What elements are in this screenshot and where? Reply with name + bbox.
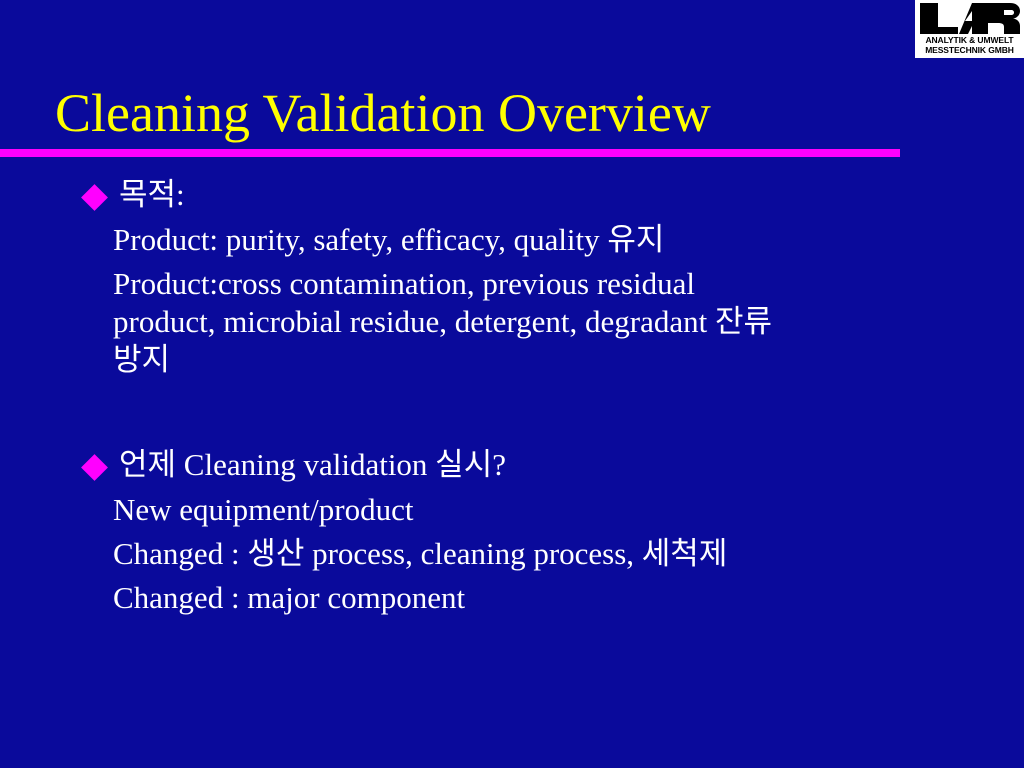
body-line: Product: purity, safety, efficacy, quali… [0, 221, 1024, 259]
bullet-item: 목적: [0, 175, 1024, 215]
slide-canvas: ANALYTIK & UMWELT MESSTECHNIK GMBH Clean… [0, 0, 1024, 768]
body-line: 방지 [0, 341, 1024, 379]
bullet-label: 언제 Cleaning validation 실시? [119, 445, 506, 485]
page-title: Cleaning Validation Overview [55, 82, 955, 144]
title-underline-rule [0, 149, 900, 157]
content-section-purpose: 목적: Product: purity, safety, efficacy, q… [0, 175, 1024, 379]
body-line: New equipment/product [0, 491, 1024, 529]
bullet-label: 목적: [119, 175, 185, 215]
diamond-bullet-icon [81, 454, 108, 481]
body-line: Changed : 생산 process, cleaning process, … [0, 535, 1024, 573]
company-logo: ANALYTIK & UMWELT MESSTECHNIK GMBH [915, 0, 1024, 58]
bullet-item: 언제 Cleaning validation 실시? [0, 445, 1024, 485]
body-line: Changed : major component [0, 579, 1024, 617]
logo-subtitle-line1: ANALYTIK & UMWELT [925, 35, 1013, 45]
body-line: Product:cross contamination, previous re… [0, 265, 1024, 303]
diamond-bullet-icon [81, 184, 108, 211]
body-line: product, microbial residue, detergent, d… [0, 303, 1024, 341]
content-section-when: 언제 Cleaning validation 실시? New equipment… [0, 445, 1024, 617]
slide-body: 목적: Product: purity, safety, efficacy, q… [0, 175, 1024, 765]
lar-logo-icon [918, 2, 1021, 35]
logo-subtitle-line2: MESSTECHNIK GMBH [925, 45, 1014, 55]
